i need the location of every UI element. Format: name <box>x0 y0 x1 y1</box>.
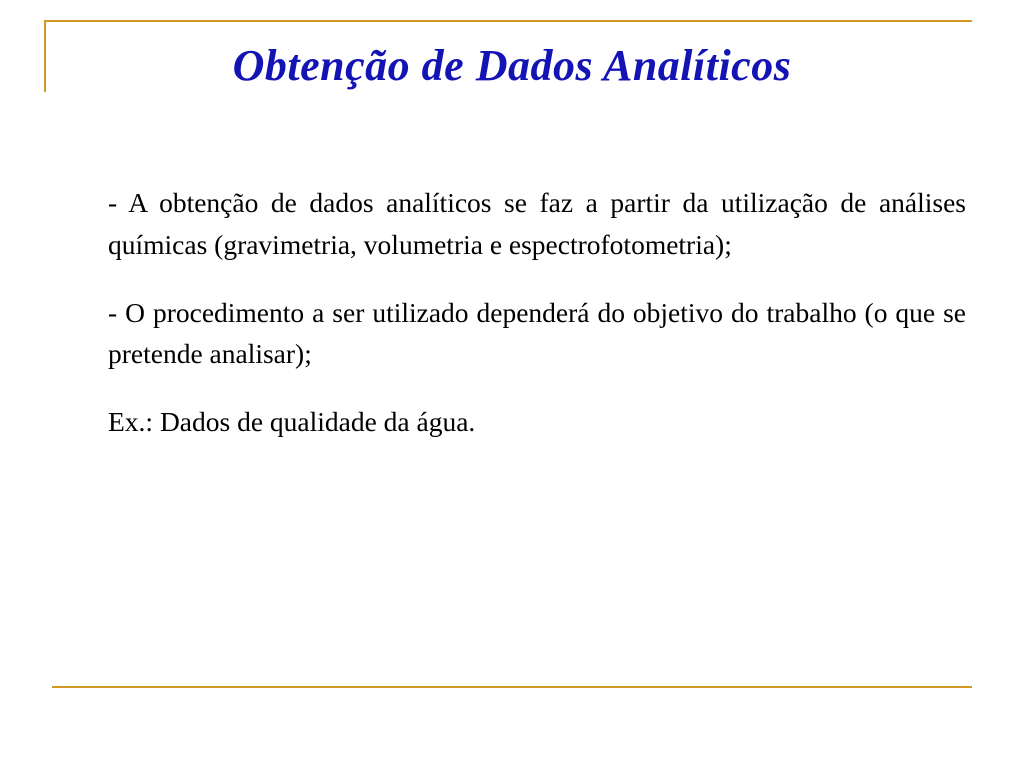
paragraph-1: - A obtenção de dados analíticos se faz … <box>108 182 966 266</box>
body-content: - A obtenção de dados analíticos se faz … <box>108 182 966 443</box>
paragraph-2: - O procedimento a ser utilizado depende… <box>108 292 966 376</box>
bottom-divider-line <box>52 686 972 688</box>
top-divider-line <box>44 20 972 22</box>
paragraph-3: Ex.: Dados de qualidade da água. <box>108 401 966 443</box>
page-title: Obtenção de Dados Analíticos <box>0 40 1024 91</box>
slide: Obtenção de Dados Analíticos - A obtençã… <box>0 0 1024 768</box>
